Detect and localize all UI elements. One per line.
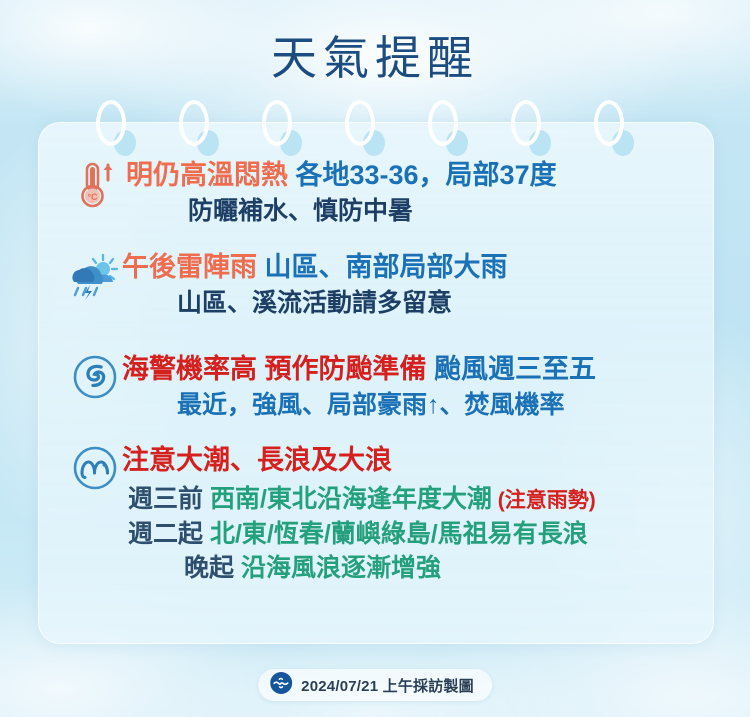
cwa-bird-logo-icon — [270, 672, 292, 699]
thermometer-icon: °C — [72, 158, 126, 210]
subline-text: 最近，強風、局部豪雨↑、焚風機率 — [177, 391, 565, 419]
subline-text: 西南/東北沿海逢年度大潮 — [210, 485, 492, 513]
footer-credit-badge: 2024/07/21 上午採訪製圖 — [258, 669, 492, 701]
subline-text: 山區、溪流活動請多留意 — [177, 289, 452, 317]
advisory-headline-line: 注意大潮、長浪及大浪 — [122, 443, 712, 477]
page-title: 天氣提醒 — [0, 22, 750, 88]
advisory-subline: 最近，強風、局部豪雨↑、焚風機率 — [122, 390, 712, 422]
notebook-ring — [96, 100, 126, 146]
advisory-text-block: 注意大潮、長浪及大浪週三前 西南/東北沿海逢年度大潮 (注意雨勢)週二起 北/東… — [122, 443, 712, 585]
subline-label: 週三前 — [128, 485, 210, 513]
advisory-subline: 晚起 沿海風浪逐漸增強 — [122, 553, 712, 585]
advisory-headline: 注意大潮、長浪及大浪 — [122, 445, 392, 475]
notebook-ring — [511, 100, 541, 146]
advisory-headline-line: 午後雷陣雨 山區、南部局部大雨 — [122, 250, 712, 284]
advisory-row: 注意大潮、長浪及大浪週三前 西南/東北沿海逢年度大潮 (注意雨勢)週二起 北/東… — [68, 443, 712, 585]
advisory-subline: 防曬補水、慎防中暑 — [126, 196, 712, 228]
subline-text: 沿海風浪逐漸增強 — [241, 554, 441, 582]
advisory-row: 海警機率高 預作防颱準備 颱風週三至五最近，強風、局部豪雨↑、焚風機率 — [68, 352, 712, 422]
advisory-headline-line: 海警機率高 預作防颱準備 颱風週三至五 — [122, 352, 712, 386]
sun-cloud-rain-icon — [68, 250, 122, 302]
advisory-text-block: 午後雷陣雨 山區、南部局部大雨山區、溪流活動請多留意 — [122, 250, 712, 320]
advisory-detail: 各地33-36，局部37度 — [288, 160, 557, 190]
subline-text: 防曬補水、慎防中暑 — [188, 197, 413, 225]
advisory-headline: 午後雷陣雨 — [122, 252, 257, 282]
advisory-text-block: 海警機率高 預作防颱準備 颱風週三至五最近，強風、局部豪雨↑、焚風機率 — [122, 352, 712, 422]
advisory-text-block: 明仍高溫悶熱 各地33-36，局部37度防曬補水、慎防中暑 — [126, 158, 712, 228]
notebook-ring — [179, 100, 209, 146]
subline-label: 週二起 — [128, 520, 210, 548]
svg-text:°C: °C — [87, 192, 98, 202]
advisory-subline: 週三前 西南/東北沿海逢年度大潮 (注意雨勢) — [122, 484, 712, 516]
advisory-subline: 週二起 北/東/恆春/蘭嶼綠島/馬祖易有長浪 — [122, 519, 712, 551]
notebook-ring — [428, 100, 458, 146]
subline-text: 北/東/恆春/蘭嶼綠島/馬祖易有長浪 — [210, 520, 588, 548]
advisory-headline-line: 明仍高溫悶熱 各地33-36，局部37度 — [126, 158, 712, 192]
advisory-detail: 颱風週三至五 — [427, 354, 597, 384]
advisory-subline: 山區、溪流活動請多留意 — [122, 288, 712, 320]
subline-note: (注意雨勢) — [492, 489, 596, 512]
advisory-row: 午後雷陣雨 山區、南部局部大雨山區、溪流活動請多留意 — [68, 250, 712, 320]
notebook-ring — [594, 100, 624, 146]
advisory-headline: 明仍高溫悶熱 — [126, 160, 288, 190]
advisory-detail: 山區、南部局部大雨 — [257, 252, 508, 282]
notebook-ring — [345, 100, 375, 146]
wave-icon — [68, 443, 122, 491]
typhoon-icon — [68, 352, 122, 400]
footer-credit-text: 2024/07/21 上午採訪製圖 — [301, 675, 474, 696]
advisory-headline: 海警機率高 預作防颱準備 — [122, 354, 427, 384]
notebook-ring — [262, 100, 292, 146]
subline-label: 晚起 — [184, 554, 241, 582]
advisory-row: °C明仍高溫悶熱 各地33-36，局部37度防曬補水、慎防中暑 — [72, 158, 712, 228]
